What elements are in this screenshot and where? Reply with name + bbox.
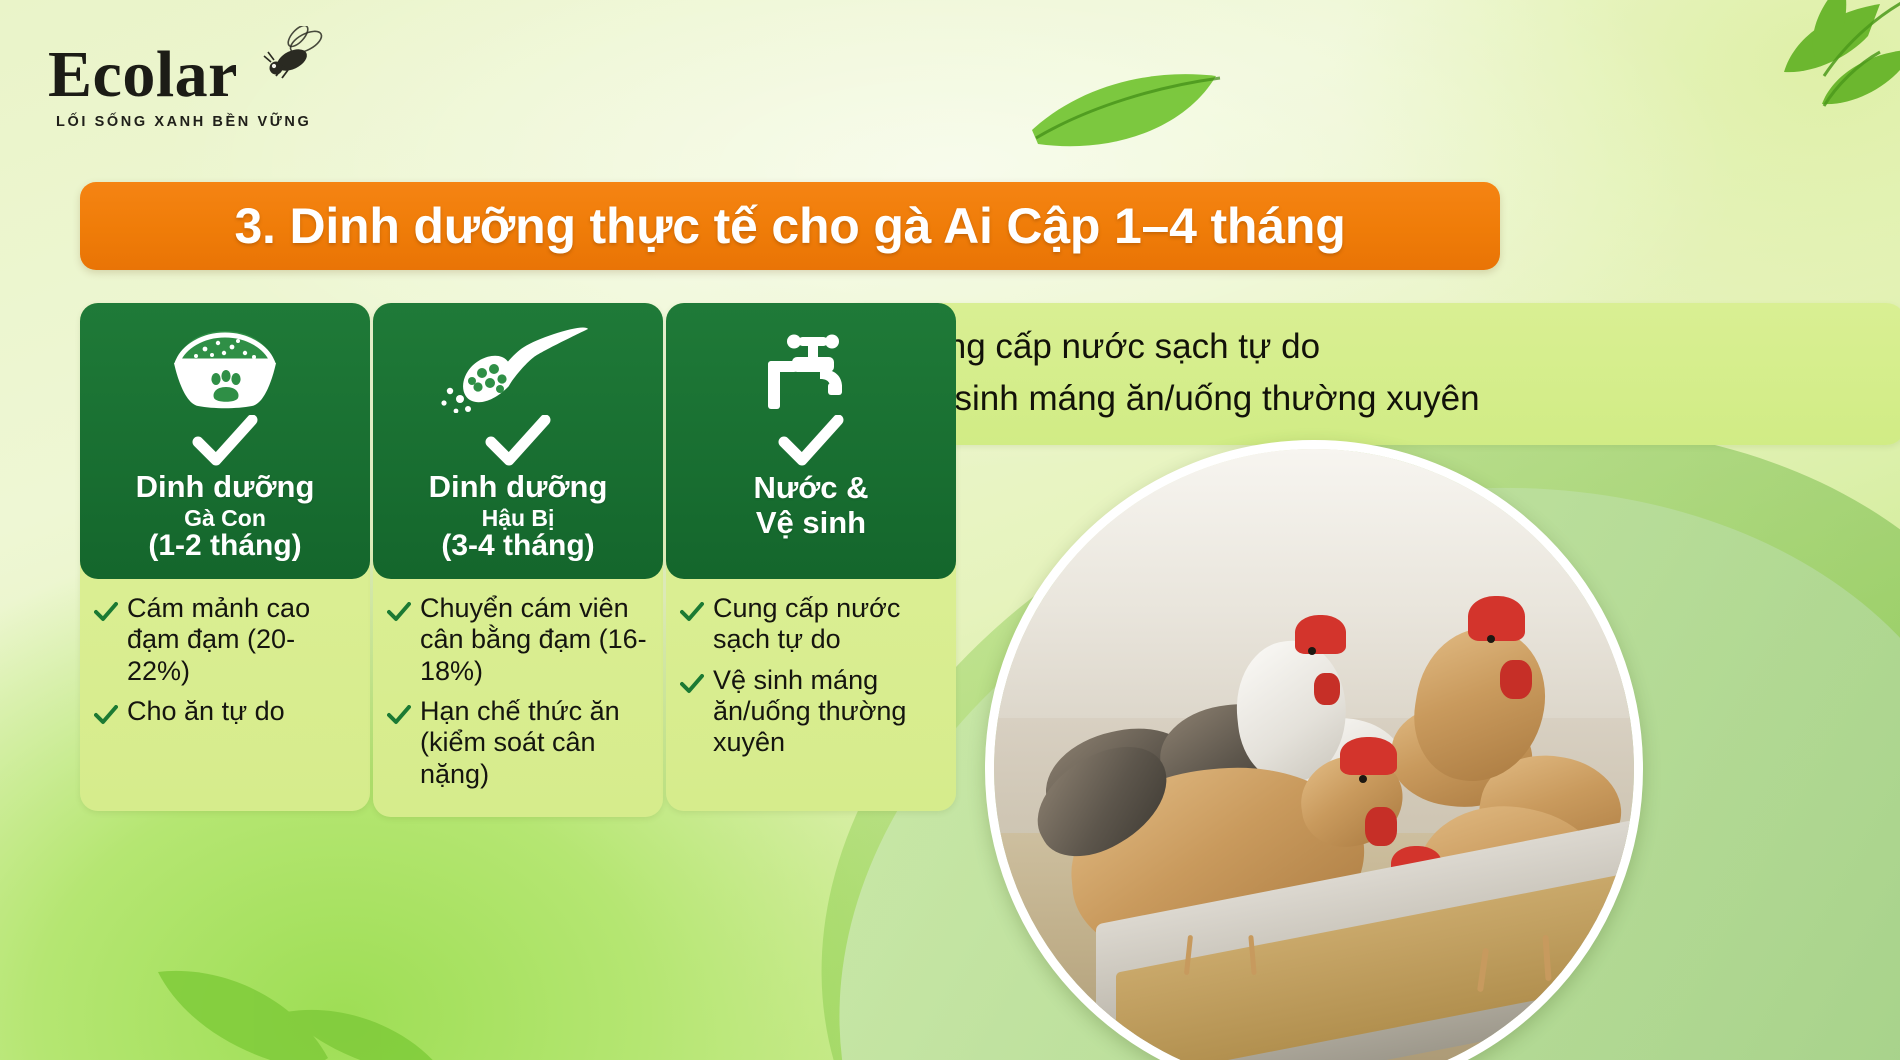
hen-wattle bbox=[1500, 660, 1532, 698]
check-icon bbox=[383, 415, 653, 467]
card-body: Dinh dưỡng Hậu Bị (3-4 tháng) Chuyển cám… bbox=[373, 303, 663, 817]
card-title: Dinh dưỡng bbox=[90, 471, 360, 504]
check-mark-icon bbox=[94, 598, 118, 629]
brand-tagline: LỐI SỐNG XANH BỀN VỮNG bbox=[56, 114, 378, 130]
chicken-photo-scene bbox=[994, 449, 1634, 1060]
card-body: Dinh dưỡng Gà Con (1-2 tháng) Cám mảnh c… bbox=[80, 303, 370, 811]
list-item-label: Cung cấp nước sạch tự do bbox=[713, 593, 944, 656]
water-hygiene-callout: Cung cấp nước sạch tự do Vệ sinh máng ăn… bbox=[845, 303, 1900, 445]
list-item-label: Hạn chế thức ăn (kiểm soát cân nặng) bbox=[420, 696, 651, 790]
list-item: Hạn chế thức ăn (kiểm soát cân nặng) bbox=[387, 696, 651, 790]
bee-icon bbox=[262, 26, 326, 80]
list-item: Vệ sinh máng ăn/uống thường xuyên bbox=[680, 665, 944, 759]
list-item: Cho ăn tự do bbox=[94, 696, 358, 732]
chicken-photo bbox=[985, 440, 1643, 1060]
list-item-label: Cung cấp nước sạch tự do bbox=[902, 325, 1320, 369]
list-item-label: Cho ăn tự do bbox=[127, 696, 285, 727]
food-bowl-icon bbox=[90, 321, 360, 413]
card-title-line2: Vệ sinh bbox=[676, 506, 946, 541]
check-mark-icon bbox=[387, 701, 411, 732]
list-item-label: Chuyển cám viên cân bằng đạm (16-18%) bbox=[420, 593, 651, 687]
hen-wattle bbox=[1314, 673, 1340, 705]
leaf-decoration-top-center bbox=[1020, 58, 1250, 178]
check-icon bbox=[90, 415, 360, 467]
card-water-hygiene: Nước & Vệ sinh Cung cấp nước sạch tự do … bbox=[666, 303, 956, 811]
hen-comb bbox=[1340, 737, 1398, 775]
hen-comb bbox=[1295, 615, 1346, 653]
list-item: Cung cấp nước sạch tự do bbox=[680, 593, 944, 656]
faucet-icon bbox=[676, 321, 946, 413]
card-bullet-list: Chuyển cám viên cân bằng đạm (16-18%) Hạ… bbox=[373, 579, 663, 817]
check-mark-icon bbox=[680, 598, 704, 629]
card-header: Dinh dưỡng Hậu Bị (3-4 tháng) bbox=[373, 303, 663, 579]
section-title-banner: 3. Dinh dưỡng thực tế cho gà Ai Cập 1–4 … bbox=[80, 182, 1500, 270]
list-item-label: Vệ sinh máng ăn/uống thường xuyên bbox=[902, 377, 1480, 421]
hen-eye bbox=[1487, 635, 1495, 643]
card-age-range: (3-4 tháng) bbox=[383, 530, 653, 562]
callout-bullet-list: Cung cấp nước sạch tự do Vệ sinh máng ăn… bbox=[875, 325, 1880, 421]
card-header: Nước & Vệ sinh bbox=[666, 303, 956, 579]
list-item-label: Vệ sinh máng ăn/uống thường xuyên bbox=[713, 665, 944, 759]
card-title: Dinh dưỡng bbox=[383, 471, 653, 504]
infographic-canvas: Ecolar LỐI SỐNG XANH BỀN VỮNG 3. Dinh dư… bbox=[0, 0, 1900, 1060]
list-item: Vệ sinh máng ăn/uống thường xuyên bbox=[875, 377, 1880, 421]
leaf-decoration-top-right bbox=[1580, 0, 1900, 204]
list-item: Cám mảnh cao đạm đạm (20-22%) bbox=[94, 593, 358, 687]
card-nutrition-chick: Dinh dưỡng Gà Con (1-2 tháng) Cám mảnh c… bbox=[80, 303, 370, 811]
check-mark-icon bbox=[387, 598, 411, 629]
leaf-decoration-bottom-left bbox=[130, 880, 450, 1060]
page-title: 3. Dinh dưỡng thực tế cho gà Ai Cập 1–4 … bbox=[234, 197, 1345, 255]
card-header: Dinh dưỡng Gà Con (1-2 tháng) bbox=[80, 303, 370, 579]
brand-name: Ecolar bbox=[48, 42, 378, 108]
card-subtitle: Gà Con bbox=[90, 506, 360, 531]
check-icon bbox=[676, 415, 946, 467]
list-item: Cung cấp nước sạch tự do bbox=[875, 325, 1880, 369]
check-mark-icon bbox=[680, 670, 704, 701]
hen-eye bbox=[1308, 647, 1316, 655]
card-title-line1: Nước & bbox=[676, 471, 946, 506]
card-bullet-list: Cung cấp nước sạch tự do Vệ sinh máng ăn… bbox=[666, 579, 956, 786]
brand-logo: Ecolar LỐI SỐNG XANH BỀN VỮNG bbox=[48, 42, 378, 130]
check-mark-icon bbox=[94, 701, 118, 732]
hen-wattle bbox=[1365, 807, 1397, 845]
list-item: Chuyển cám viên cân bằng đạm (16-18%) bbox=[387, 593, 651, 687]
card-age-range: (1-2 tháng) bbox=[90, 530, 360, 562]
card-body: Nước & Vệ sinh Cung cấp nước sạch tự do … bbox=[666, 303, 956, 811]
hen-comb bbox=[1468, 596, 1526, 641]
feed-scoop-icon bbox=[383, 321, 653, 413]
card-bullet-list: Cám mảnh cao đạm đạm (20-22%) Cho ăn tự … bbox=[80, 579, 370, 759]
list-item-label: Cám mảnh cao đạm đạm (20-22%) bbox=[127, 593, 358, 687]
card-subtitle: Hậu Bị bbox=[383, 506, 653, 531]
card-nutrition-pullet: Dinh dưỡng Hậu Bị (3-4 tháng) Chuyển cám… bbox=[373, 303, 663, 817]
